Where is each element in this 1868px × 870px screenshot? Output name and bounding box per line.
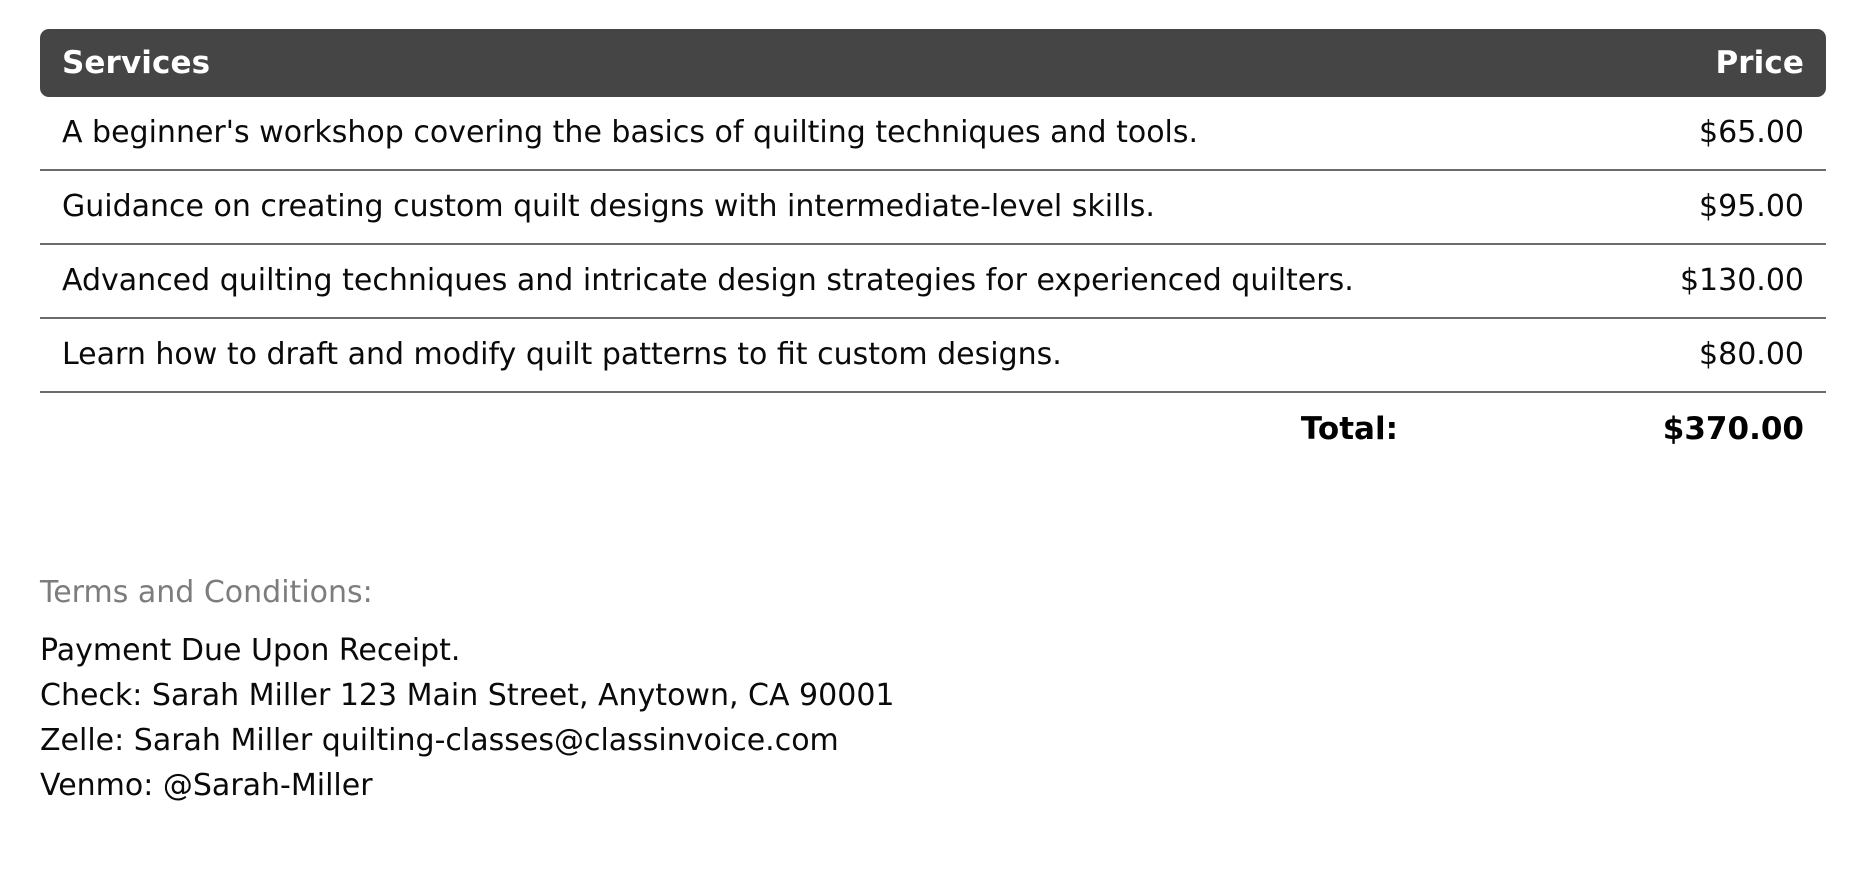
total-amount: $370.00 [1420,392,1826,465]
column-header-services: Services [40,29,1420,97]
table-row: Advanced quilting techniques and intrica… [40,244,1826,318]
terms-line-payment-due: Payment Due Upon Receipt. [40,628,1540,673]
service-description: Advanced quilting techniques and intrica… [40,244,1420,318]
service-description: A beginner's workshop covering the basic… [40,97,1420,170]
service-price: $95.00 [1420,170,1826,244]
service-description: Learn how to draft and modify quilt patt… [40,318,1420,392]
service-description: Guidance on creating custom quilt design… [40,170,1420,244]
invoice-services-section: Services Price A beginner's workshop cov… [0,0,1868,870]
table-header-row: Services Price [40,29,1826,97]
services-table-body: A beginner's workshop covering the basic… [40,97,1826,392]
service-price: $130.00 [1420,244,1826,318]
terms-and-conditions-block: Terms and Conditions: Payment Due Upon R… [40,578,1540,808]
services-table-footer: Total: $370.00 [40,392,1826,465]
column-header-price: Price [1420,29,1826,97]
table-row: Guidance on creating custom quilt design… [40,170,1826,244]
service-price: $80.00 [1420,318,1826,392]
total-row: Total: $370.00 [40,392,1826,465]
terms-line-venmo: Venmo: @Sarah-Miller [40,763,1540,808]
terms-line-check: Check: Sarah Miller 123 Main Street, Any… [40,673,1540,718]
services-table: Services Price A beginner's workshop cov… [40,29,1826,465]
terms-title: Terms and Conditions: [40,578,1540,608]
total-label: Total: [40,392,1420,465]
services-table-header: Services Price [40,29,1826,97]
terms-line-zelle: Zelle: Sarah Miller quilting-classes@cla… [40,718,1540,763]
table-row: Learn how to draft and modify quilt patt… [40,318,1826,392]
service-price: $65.00 [1420,97,1826,170]
table-row: A beginner's workshop covering the basic… [40,97,1826,170]
